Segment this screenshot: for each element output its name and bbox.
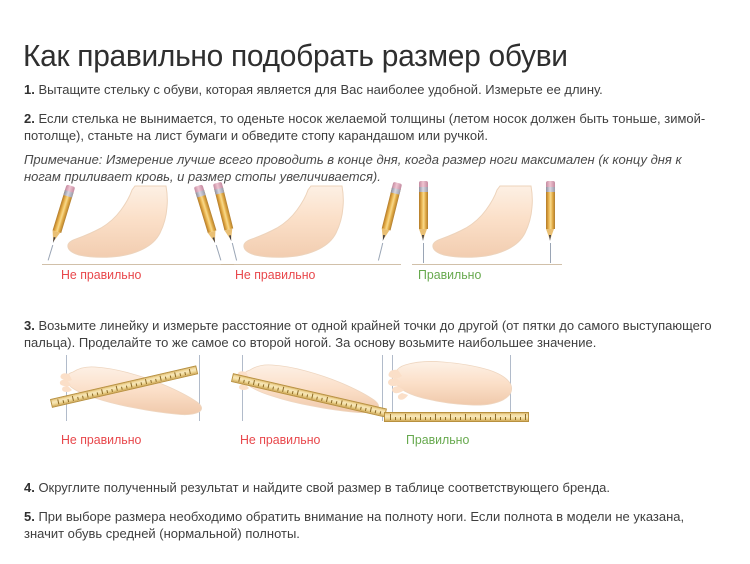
step-3-text: Возьмите линейку и измерьте расстояние о… bbox=[24, 318, 712, 350]
caption-row1-item1: Не правильно bbox=[61, 268, 141, 283]
pencil-icon bbox=[214, 187, 237, 245]
pencil-icon bbox=[419, 186, 428, 244]
caption-row1-item3: Правильно bbox=[418, 268, 481, 283]
foot-top-icon bbox=[387, 359, 519, 409]
step-5-text: При выборе размера необходимо обратить в… bbox=[24, 509, 684, 541]
step-2-paragraph: 2. Если стелька не вынимается, то оденьт… bbox=[24, 110, 719, 144]
caption-row1-item2: Не правильно bbox=[235, 268, 315, 283]
ruler-icon bbox=[384, 412, 529, 422]
page-title: Как правильно подобрать размер обуви bbox=[23, 37, 568, 75]
illustration-cell-6: Правильно bbox=[380, 355, 560, 450]
pencil-icon bbox=[546, 186, 555, 244]
note-label: Примечание: bbox=[24, 152, 102, 167]
step-1-number: 1. bbox=[24, 82, 35, 97]
step-3-paragraph: 3. Возьмите линейку и измерьте расстояни… bbox=[24, 317, 719, 351]
caption-row2-item1: Не правильно bbox=[61, 433, 141, 448]
illustration-cell-2: Не правильно bbox=[215, 180, 415, 290]
illustration-row-top-view: Не правильно bbox=[0, 355, 750, 450]
caption-row2-item3: Правильно bbox=[406, 433, 469, 448]
step-2-text: Если стелька не вынимается, то оденьте н… bbox=[24, 111, 705, 143]
step-4-number: 4. bbox=[24, 480, 35, 495]
foot-side-icon bbox=[63, 185, 208, 267]
step-2-number: 2. bbox=[24, 111, 35, 126]
step-4-text: Округлите полученный результат и найдите… bbox=[35, 480, 610, 495]
step-5-number: 5. bbox=[24, 509, 35, 524]
step-5-paragraph: 5. При выборе размера необходимо обратит… bbox=[24, 508, 719, 542]
step-4-paragraph: 4. Округлите полученный результат и найд… bbox=[24, 479, 719, 496]
step-1-text: Вытащите стельку с обуви, которая являет… bbox=[35, 82, 603, 97]
foot-side-icon bbox=[239, 185, 384, 267]
illustration-cell-4: Не правильно bbox=[45, 355, 225, 450]
caption-row2-item2: Не правильно bbox=[240, 433, 320, 448]
step-3-number: 3. bbox=[24, 318, 35, 333]
illustration-row-side-view: Не правильно bbox=[0, 180, 750, 290]
illustration-cell-3: Правильно bbox=[400, 180, 600, 290]
step-1-paragraph: 1. Вытащите стельку с обуви, которая явл… bbox=[24, 81, 719, 98]
shoe-size-guide-page: Как правильно подобрать размер обуви 1. … bbox=[0, 0, 750, 564]
